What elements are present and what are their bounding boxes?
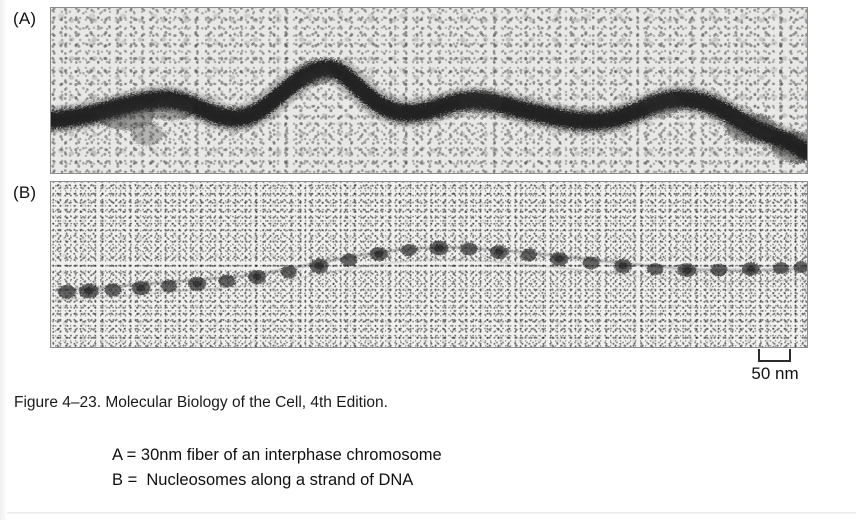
scale-bar: 50 nm	[742, 349, 808, 384]
micrograph-panel-a	[50, 7, 808, 174]
page-left-edge	[0, 0, 7, 520]
figure-caption: Figure 4–23. Molecular Biology of the Ce…	[14, 393, 388, 413]
chromatin-fiber-30nm	[51, 8, 807, 173]
scale-bar-label: 50 nm	[742, 364, 808, 384]
scale-bracket-icon	[758, 349, 791, 362]
legend-line-a: A = 30nm fiber of an interphase chromoso…	[112, 443, 442, 468]
page-bottom-edge	[7, 512, 856, 514]
micrograph-panel-b	[50, 181, 808, 348]
scale-tick-right	[789, 349, 791, 360]
panel-label-b: (B)	[13, 183, 36, 203]
figure-legend: A = 30nm fiber of an interphase chromoso…	[112, 443, 442, 493]
panel-label-a: (A)	[13, 9, 36, 29]
nucleosome-beads-on-string	[51, 182, 807, 347]
scale-bar-line	[758, 360, 791, 362]
scale-tick-left	[758, 349, 760, 360]
legend-line-b: B = Nucleosomes along a strand of DNA	[112, 468, 442, 493]
